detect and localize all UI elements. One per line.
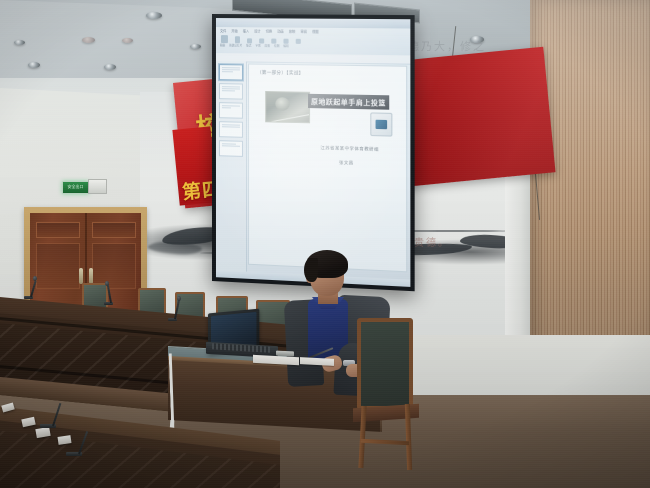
microphone-head — [177, 296, 181, 301]
ribbon-tab[interactable]: 插入 — [243, 28, 249, 33]
door-panel — [92, 222, 136, 238]
exit-sign-label: 安全出口 — [63, 182, 88, 191]
projection-screen: 文件 开始 插入 设计 切换 动画 放映 审阅 视图 — [212, 14, 415, 291]
paste-icon[interactable] — [221, 35, 228, 43]
slide-photo — [265, 91, 310, 123]
ribbon-label-row: 粘贴 新建幻灯片 版式 字体 段落 绘图 编辑 — [220, 43, 289, 48]
downlight — [14, 40, 25, 45]
slide-badge-icon — [370, 112, 392, 136]
exit-sign: 安全出口 — [62, 181, 89, 194]
downlight — [190, 44, 201, 49]
ribbon-group-label: 段落 — [265, 44, 270, 48]
slide-thumbnail[interactable] — [219, 121, 243, 138]
ribbon-tab-row: 文件 开始 插入 设计 切换 动画 放映 审阅 视图 — [220, 28, 319, 34]
door-handle[interactable] — [79, 268, 83, 284]
slide-organization: 江苏省某某中学体育教研组 — [320, 145, 379, 153]
microphone-head — [105, 281, 109, 286]
slide-thumbnail[interactable] — [219, 64, 243, 80]
downlight — [122, 38, 133, 43]
ribbon-tab[interactable]: 开始 — [231, 28, 237, 33]
ribbon-tab[interactable]: 切换 — [266, 28, 272, 33]
ribbon-tab[interactable]: 视图 — [312, 29, 319, 34]
slide-presenter-name: 张文昌 — [339, 160, 354, 167]
slide-tagline: （第一部分）【实战】 — [257, 70, 304, 77]
slide-thumbnail[interactable] — [219, 83, 243, 99]
ribbon-tab[interactable]: 放映 — [289, 29, 296, 34]
downlight — [28, 62, 40, 68]
ribbon-group-label: 新建幻灯片 — [229, 43, 242, 47]
downlight — [146, 12, 162, 19]
ribbon-group-label: 绘图 — [274, 44, 279, 48]
door-panel — [36, 222, 80, 238]
ribbon-tab[interactable]: 设计 — [254, 28, 260, 33]
downlight — [82, 37, 95, 43]
new-slide-icon[interactable] — [235, 36, 240, 43]
chair-back — [357, 318, 413, 410]
slide-canvas[interactable]: （第一部分）【实战】 原地跃起单手肩上投篮 江苏省某某中学体育教研组 张文昌 — [248, 63, 407, 272]
badge-glyph — [376, 120, 388, 130]
wall-control-box — [88, 179, 107, 194]
ribbon-group-label: 粘贴 — [220, 43, 225, 47]
door-panel — [36, 243, 80, 289]
projection-surface: 文件 开始 插入 设计 切换 动画 放映 审阅 视图 — [216, 18, 410, 287]
slide-thumbnail[interactable] — [219, 140, 243, 157]
photo-scene: 德乃大，修之 以乡观乡， 而贵德。 安全出口 校 手”决赛 第四 文件 开始 — [0, 0, 650, 488]
wall-calligraphy-line-1: 德乃大，修之 — [408, 38, 486, 54]
ribbon-tab[interactable]: 动画 — [277, 29, 283, 34]
slide-title-band: 原地跃起单手肩上投篮 — [308, 94, 389, 110]
slide-thumbnail-pane[interactable] — [216, 61, 247, 279]
slide-title: 原地跃起单手肩上投篮 — [311, 96, 386, 108]
microphone-head — [33, 276, 37, 281]
slide-photo-highlight — [265, 113, 310, 124]
app-ribbon: 文件 开始 插入 设计 切换 动画 放映 审阅 视图 — [216, 27, 410, 56]
ribbon-group-label: 版式 — [246, 43, 251, 47]
door-handle[interactable] — [89, 268, 93, 284]
edit-icon[interactable] — [296, 39, 301, 44]
microphone-base — [168, 318, 177, 321]
slide-thumbnail[interactable] — [219, 102, 243, 119]
presenter-remote[interactable] — [276, 351, 294, 357]
downlight — [104, 64, 116, 70]
ribbon-group-label: 字体 — [255, 43, 260, 47]
hair-side — [304, 258, 318, 282]
microphone-base — [104, 302, 113, 305]
ribbon-tab[interactable]: 文件 — [220, 28, 226, 33]
slide-photo-subject — [275, 97, 289, 110]
ribbon-group-label: 编辑 — [283, 44, 288, 48]
ribbon-tab[interactable]: 审阅 — [300, 29, 307, 34]
